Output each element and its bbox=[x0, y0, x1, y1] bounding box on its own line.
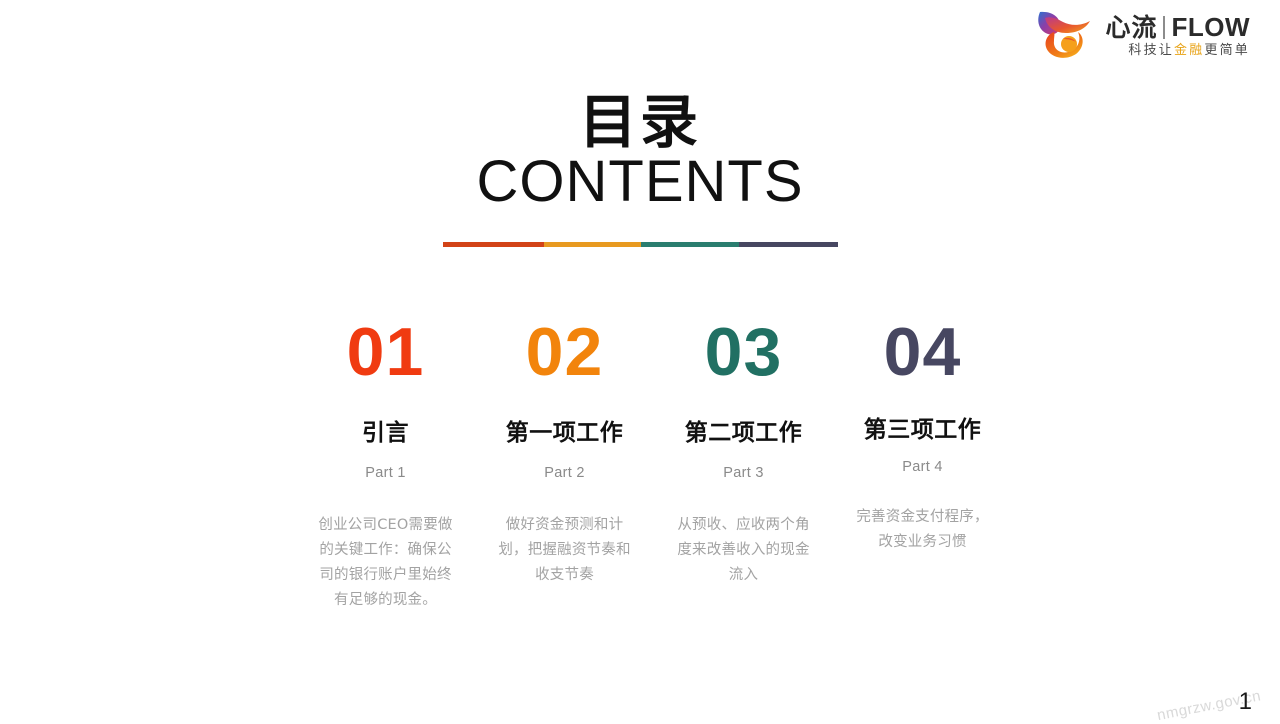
divider-segment-3 bbox=[641, 242, 740, 247]
brand-tagline: 科技让金融更简单 bbox=[1105, 44, 1250, 57]
color-divider bbox=[443, 242, 838, 247]
brand-name-cn: 心流 bbox=[1105, 15, 1157, 40]
contents-item-number: 03 bbox=[660, 318, 827, 386]
brand-name-row: 心流 FLOW bbox=[1105, 13, 1250, 40]
contents-item-number: 02 bbox=[481, 318, 648, 386]
contents-item-title: 引言 bbox=[302, 420, 469, 448]
contents-item-03[interactable]: 03 第二项工作 Part 3 从预收、应收两个角度来改善收入的现金流入 bbox=[654, 318, 833, 588]
flow-swirl-logo-icon bbox=[1033, 8, 1097, 62]
contents-item-description: 创业公司CEO需要做的关键工作：确保公司的银行账户里始终有足够的现金。 bbox=[318, 513, 453, 613]
contents-columns: 01 引言 Part 1 创业公司CEO需要做的关键工作：确保公司的银行账户里始… bbox=[296, 318, 1012, 613]
page-title-cn: 目录 bbox=[0, 92, 1280, 153]
brand-logo: 心流 FLOW 科技让金融更简单 bbox=[1033, 8, 1250, 62]
brand-divider bbox=[1163, 16, 1165, 39]
brand-name-en: FLOW bbox=[1171, 14, 1250, 40]
divider-segment-1 bbox=[443, 242, 544, 247]
contents-item-part: Part 2 bbox=[481, 465, 648, 481]
brand-tagline-highlight: 金融 bbox=[1174, 43, 1204, 58]
contents-item-title: 第三项工作 bbox=[839, 417, 1006, 445]
contents-item-number: 01 bbox=[302, 318, 469, 386]
contents-item-description: 完善资金支付程序，改变业务习惯 bbox=[855, 505, 990, 555]
contents-item-part: Part 4 bbox=[839, 459, 1006, 475]
divider-segment-2 bbox=[544, 242, 641, 247]
contents-item-title: 第二项工作 bbox=[660, 420, 827, 448]
brand-tagline-suffix: 更简单 bbox=[1204, 43, 1250, 58]
page-title-en: CONTENTS bbox=[0, 151, 1280, 214]
contents-item-part: Part 3 bbox=[660, 465, 827, 481]
contents-item-04[interactable]: 04 第三项工作 Part 4 完善资金支付程序，改变业务习惯 bbox=[833, 318, 1012, 555]
contents-item-01[interactable]: 01 引言 Part 1 创业公司CEO需要做的关键工作：确保公司的银行账户里始… bbox=[296, 318, 475, 613]
brand-text: 心流 FLOW 科技让金融更简单 bbox=[1105, 13, 1250, 57]
page-title: 目录 CONTENTS bbox=[0, 92, 1280, 214]
divider-segment-4 bbox=[739, 242, 838, 247]
contents-item-part: Part 1 bbox=[302, 465, 469, 481]
contents-item-description: 做好资金预测和计划，把握融资节奏和收支节奏 bbox=[497, 513, 632, 588]
contents-item-number: 04 bbox=[839, 318, 1006, 386]
contents-item-description: 从预收、应收两个角度来改善收入的现金流入 bbox=[676, 513, 811, 588]
slide-contents: 心流 FLOW 科技让金融更简单 目录 CONTENTS 01 引言 Part … bbox=[0, 0, 1280, 720]
page-number: 1 bbox=[1239, 690, 1252, 714]
brand-tagline-prefix: 科技让 bbox=[1128, 43, 1174, 58]
contents-item-title: 第一项工作 bbox=[481, 420, 648, 448]
contents-item-02[interactable]: 02 第一项工作 Part 2 做好资金预测和计划，把握融资节奏和收支节奏 bbox=[475, 318, 654, 588]
